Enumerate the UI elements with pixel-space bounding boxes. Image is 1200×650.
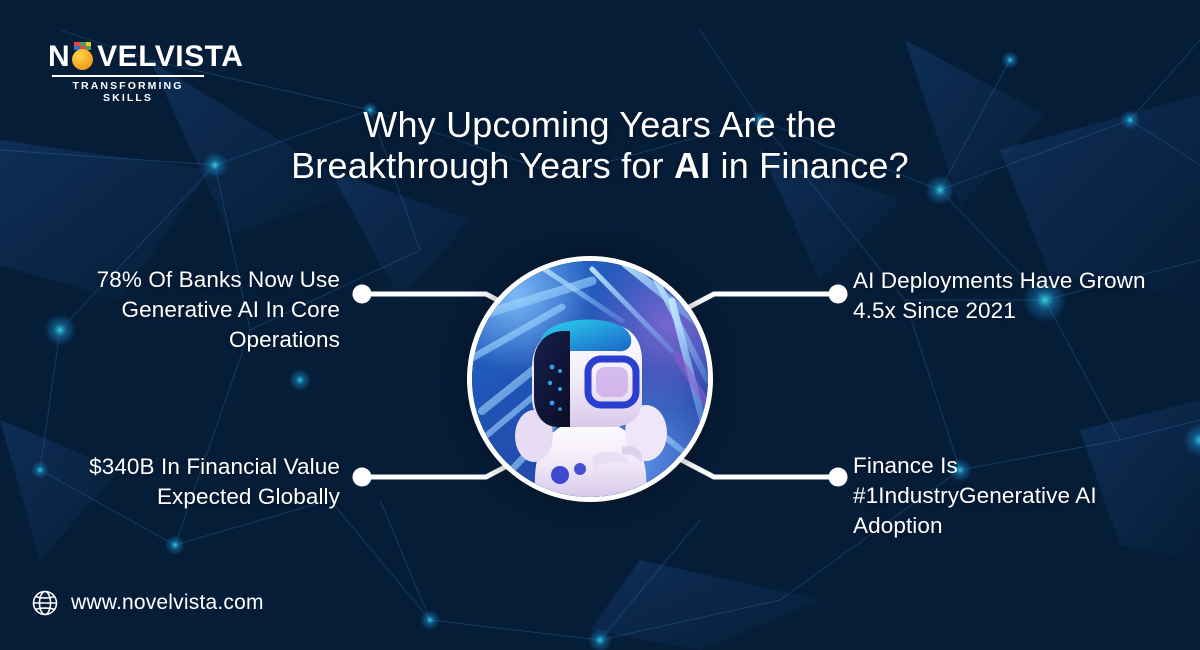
center-image-clip [472, 261, 708, 497]
callout-text-top-right: AI Deployments Have Grown 4.5x Since 202… [853, 266, 1173, 326]
callout-text-top-left: 78% Of Banks Now Use Generative AI In Co… [30, 265, 340, 355]
connector-dot-bottom-right [829, 468, 848, 487]
connector-dot-top-right [829, 285, 848, 304]
connector-dot-top-left [353, 285, 372, 304]
website-url-text: www.novelvista.com [71, 591, 264, 615]
center-robot-image [467, 256, 713, 502]
infographic-canvas: N VELVISTA TRANSFORMING SKILLS Why Upcom… [0, 0, 1200, 650]
globe-icon [30, 588, 60, 618]
light-streaks-graphic [472, 261, 708, 497]
callout-text-bottom-right: Finance Is #1IndustryGenerative AI Adopt… [853, 451, 1173, 541]
footer-website[interactable]: www.novelvista.com [30, 588, 264, 618]
callout-text-bottom-left: $340B In Financial Value Expected Global… [30, 452, 340, 512]
connector-dot-bottom-left [353, 468, 372, 487]
